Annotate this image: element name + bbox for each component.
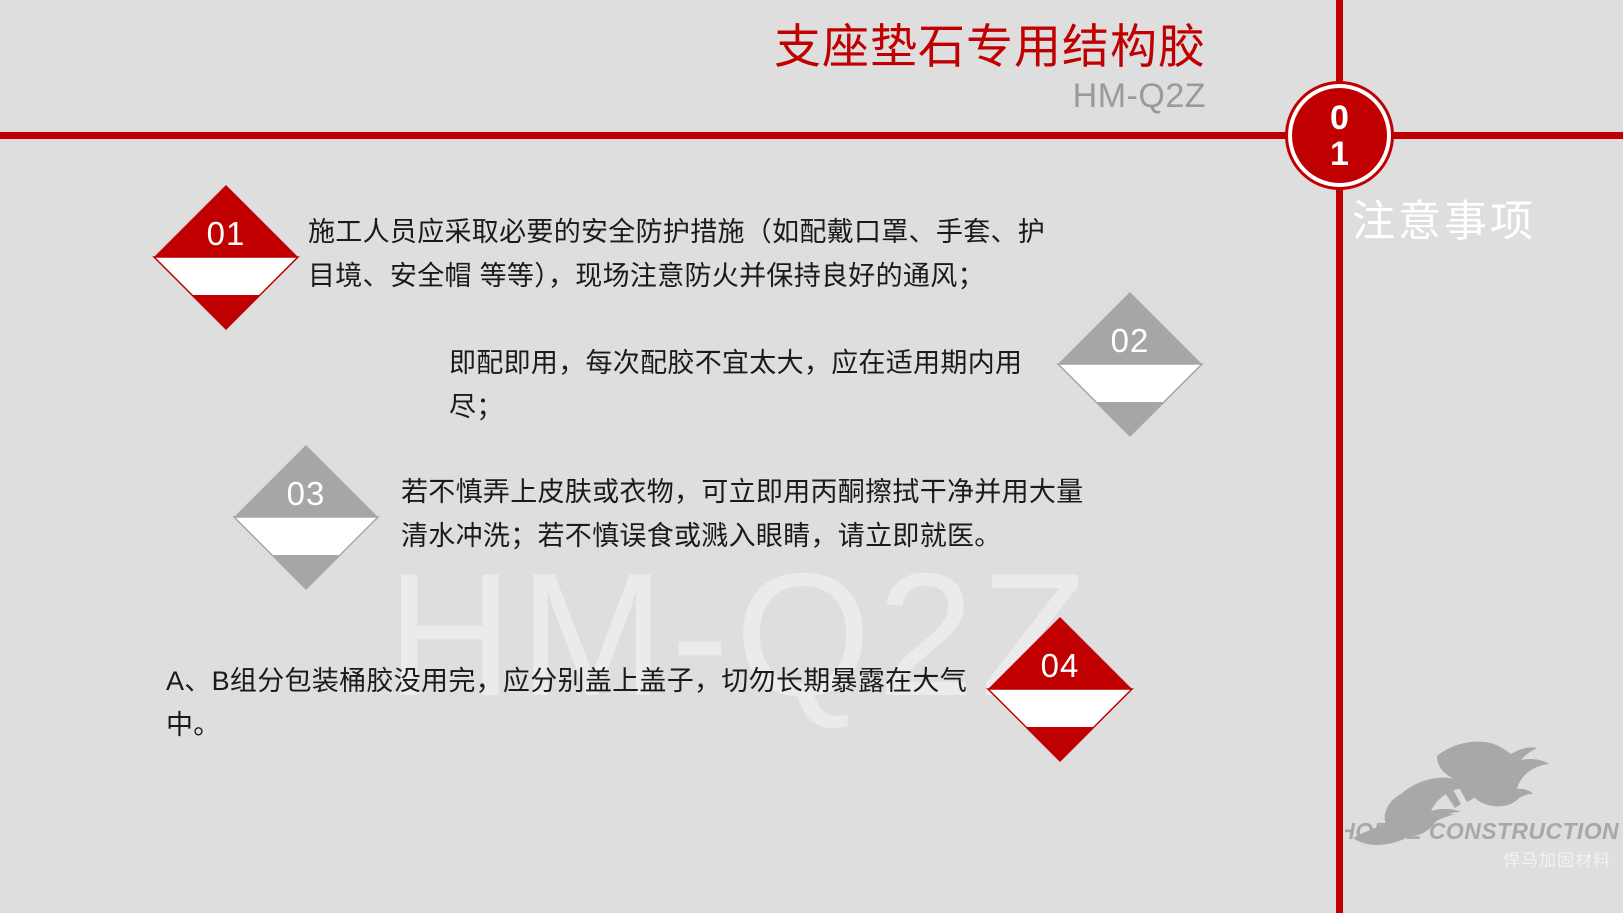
diamond-marker-03: 03 [232, 443, 380, 591]
diamond-marker-04: 04 [986, 615, 1134, 763]
diamond-bottom-tip-03 [272, 555, 340, 589]
badge-digit-bottom: 1 [1330, 136, 1349, 172]
diamond-top-half-04 [988, 617, 1132, 689]
item-text-01: 施工人员应采取必要的安全防护措施（如配戴口罩、手套、护目境、安全帽 等等），现场… [308, 210, 1068, 298]
slide-header: 支座垫石专用结构胶 HM-Q2Z [0, 18, 1290, 116]
item-text-02: 即配即用，每次配胶不宜太大，应在适用期内用尽； [449, 341, 1069, 429]
brand-logo-subtitle: 悍马加固材料 [1345, 850, 1623, 872]
horse-logo-icon: HORSE CONSTRUCTION [1345, 738, 1623, 846]
badge-digit-top: 0 [1330, 100, 1349, 136]
page-subtitle: HM-Q2Z [0, 76, 1206, 116]
section-label: 注意事项 [1352, 196, 1536, 248]
slide-canvas: HM-Q2Z 支座垫石专用结构胶 HM-Q2Z 0 1 注意事项 01 施工人员… [0, 0, 1623, 913]
diamond-bottom-tip-01 [192, 295, 260, 329]
diamond-top-half-02 [1058, 292, 1202, 364]
svg-text:HORSE CONSTRUCTION: HORSE CONSTRUCTION [1345, 818, 1619, 844]
diamond-marker-02: 02 [1056, 290, 1204, 438]
item-text-03: 若不慎弄上皮肤或衣物，可立即用丙酮擦拭干净并用大量清水冲洗；若不慎误食或溅入眼睛… [401, 470, 1101, 558]
diamond-marker-01: 01 [152, 183, 300, 331]
diamond-bottom-tip-02 [1096, 402, 1164, 436]
page-title: 支座垫石专用结构胶 [0, 18, 1206, 76]
diamond-bottom-tip-04 [1026, 727, 1094, 761]
item-text-04: A、B组分包装桶胶没用完，应分别盖上盖子，切勿长期暴露在大气中。 [166, 659, 1016, 747]
diamond-top-half-03 [234, 445, 378, 517]
diamond-top-half-01 [154, 185, 298, 257]
brand-logo: HORSE CONSTRUCTION 悍马加固材料 [1345, 738, 1623, 872]
section-number-badge: 0 1 [1292, 88, 1387, 183]
